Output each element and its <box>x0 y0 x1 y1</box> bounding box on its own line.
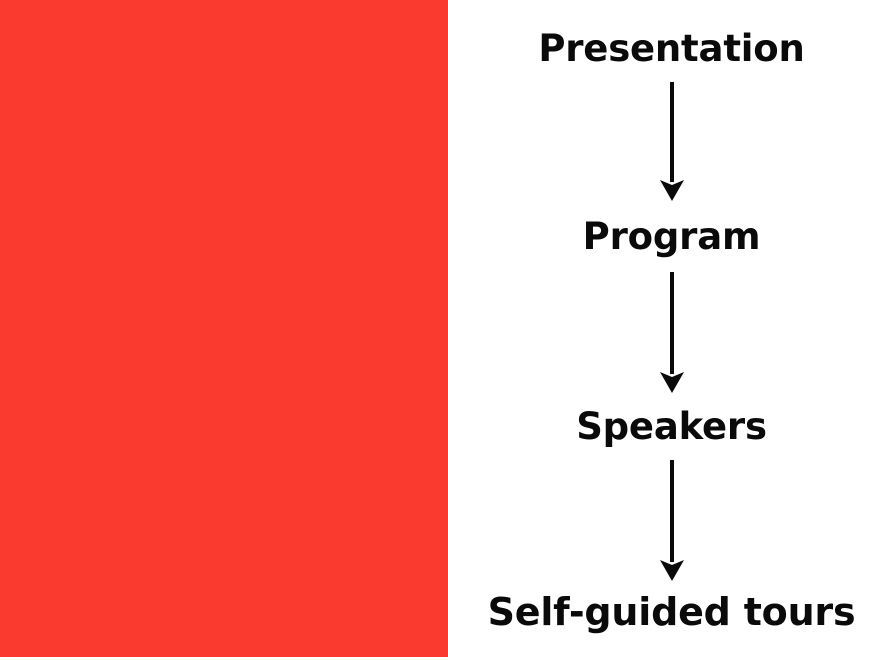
flow-diagram: Presentation Program Speakers Self-guide… <box>448 0 895 660</box>
flow-node-speakers: Speakers <box>448 408 895 445</box>
flow-node-self-guided-tours: Self-guided tours <box>448 593 895 631</box>
flow-node-program: Program <box>448 218 895 255</box>
slide-canvas: Presentation Program Speakers Self-guide… <box>0 0 895 660</box>
flow-node-presentation: Presentation <box>448 30 895 67</box>
left-color-block <box>0 0 448 657</box>
